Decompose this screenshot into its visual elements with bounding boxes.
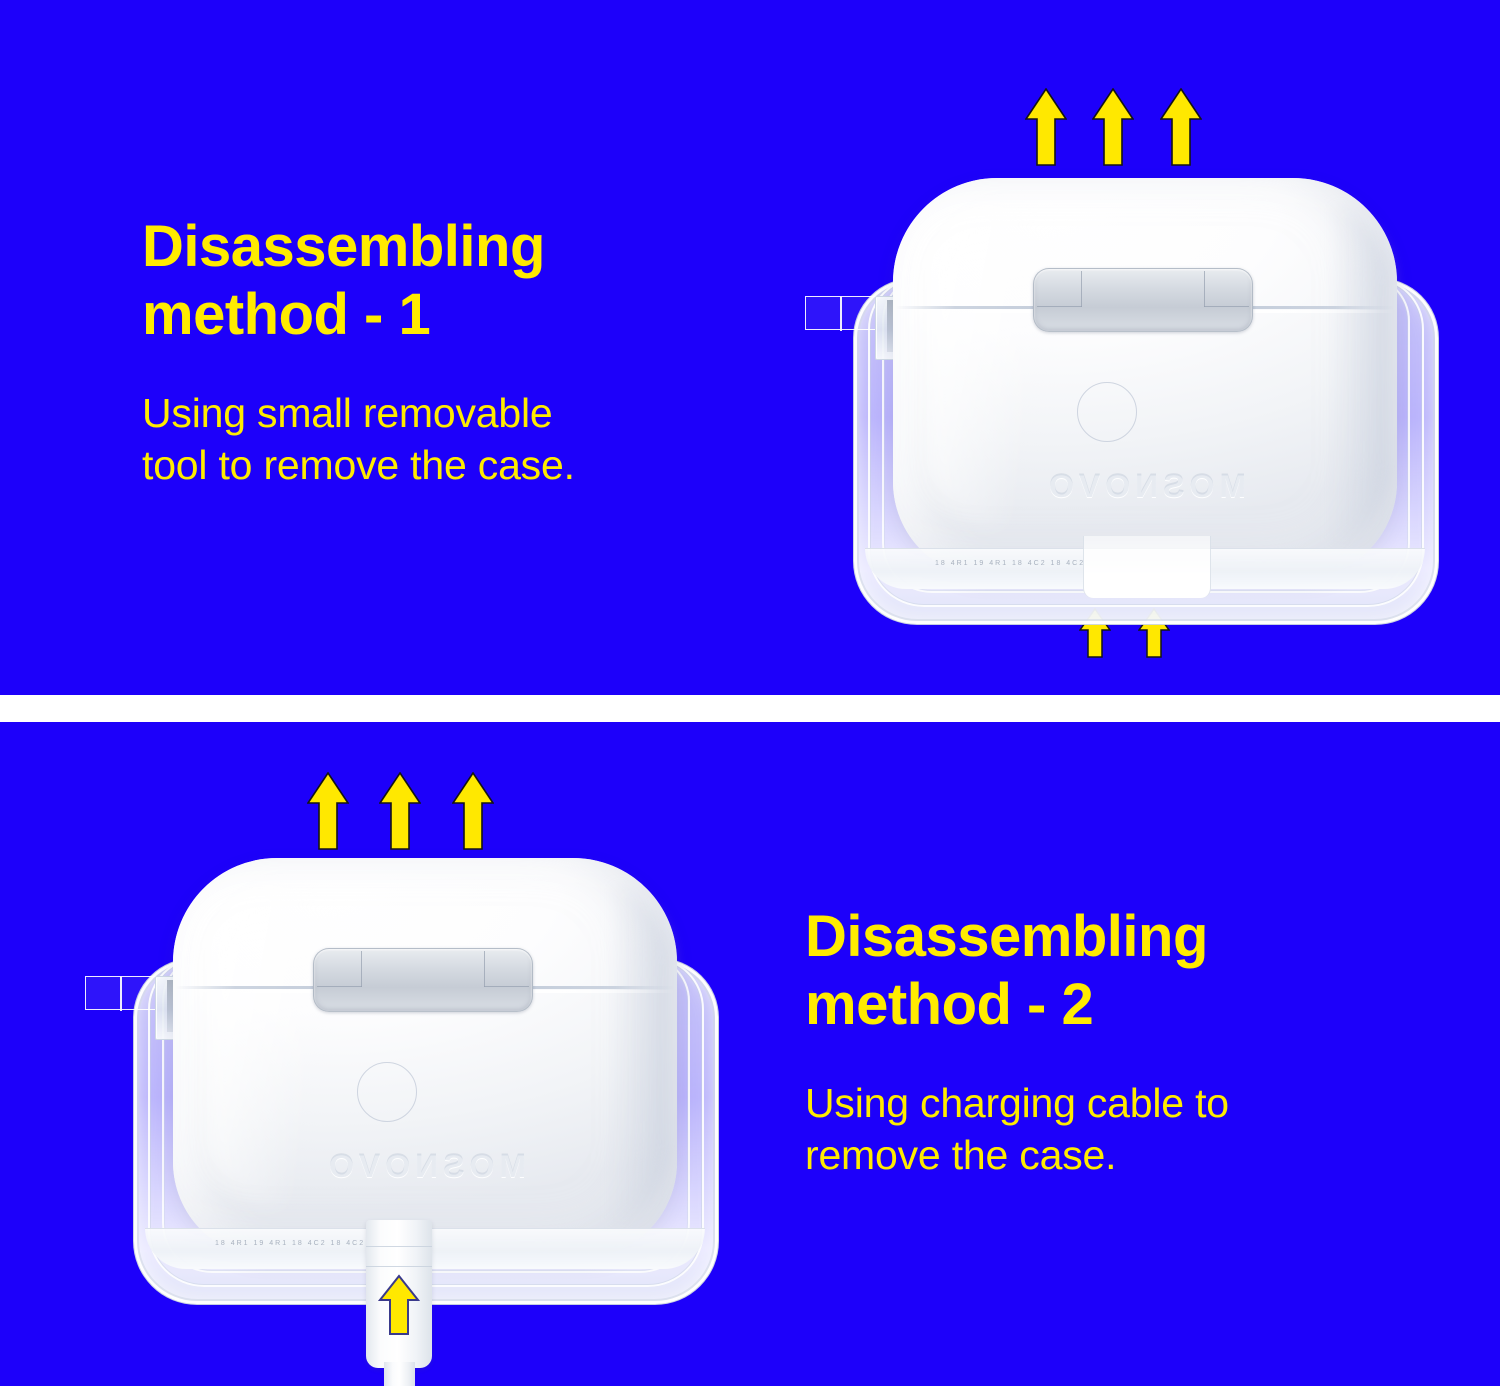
text-block-method-2: Disassembling method - 2 Using charging … xyxy=(805,903,1405,1182)
hinge-notch-line-left xyxy=(317,986,362,987)
cable-connector xyxy=(366,1220,432,1368)
subline-method-1: Using small removable tool to remove the… xyxy=(142,387,762,492)
charging-cable-icon xyxy=(366,1220,432,1386)
headline-method-1: Disassembling method - 1 xyxy=(142,213,762,349)
cable-wire xyxy=(384,1362,415,1386)
hinge-notch-left xyxy=(1081,271,1082,307)
arrow-up-icon xyxy=(378,1274,420,1336)
product-airpods-case-1: MOSNOVO 18 4R1 19 4R1 18 4C2 18 4C2 xyxy=(845,150,1445,630)
text-block-method-1: Disassembling method - 1 Using small rem… xyxy=(142,213,762,492)
brand-emboss: MOSNOVO xyxy=(845,468,1445,505)
subline-method-2: Using charging cable to remove the case. xyxy=(805,1077,1405,1182)
panel-method-2: Disassembling method - 2 Using charging … xyxy=(0,722,1500,1386)
hinge-notch-line-right xyxy=(1204,306,1249,307)
tool-tip-divider xyxy=(840,297,842,331)
instruction-sheet: Disassembling method - 1 Using small rem… xyxy=(0,0,1500,1386)
status-circle-icon xyxy=(1077,382,1137,442)
hinge-notch-line-left xyxy=(1037,306,1082,307)
hinge-notch-line-right xyxy=(484,986,529,987)
hinge-notch-right xyxy=(484,951,485,987)
hinge-notch-right xyxy=(1204,271,1205,307)
hinge-notch-left xyxy=(361,951,362,987)
hinge-icon xyxy=(313,948,533,1012)
airpods-case-body xyxy=(893,178,1397,578)
panel-method-1: Disassembling method - 1 Using small rem… xyxy=(0,0,1500,695)
headline-method-2: Disassembling method - 2 xyxy=(805,903,1405,1039)
tool-tip xyxy=(85,976,157,1010)
tool-tip-divider xyxy=(120,977,122,1011)
brand-emboss: MOSNOVO xyxy=(125,1148,725,1185)
status-circle-icon xyxy=(357,1062,417,1122)
cable-connector-line xyxy=(366,1246,432,1247)
tool-tip xyxy=(805,296,877,330)
cable-connector-line xyxy=(366,1266,432,1267)
hinge-icon xyxy=(1033,268,1253,332)
airpods-case-body xyxy=(173,858,677,1258)
product-airpods-case-2: MOSNOVO 18 4R1 19 4R1 18 4C2 18 4C2 xyxy=(125,830,725,1310)
charging-port-cutout xyxy=(1083,536,1211,598)
panel-divider xyxy=(0,695,1500,722)
